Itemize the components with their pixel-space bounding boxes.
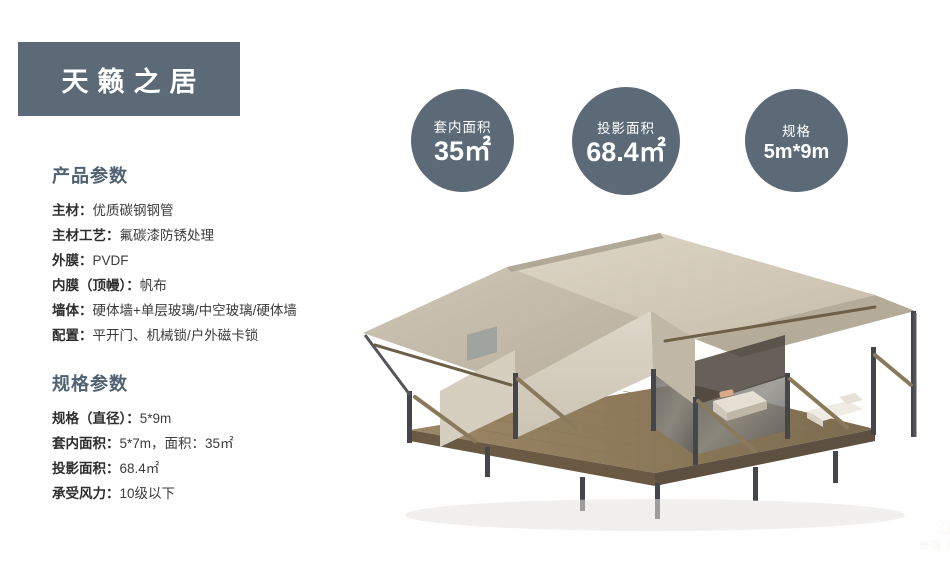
spec-row: 墙体：硬体墙+单层玻璃/中空玻璃/硬体墙 xyxy=(52,298,382,323)
spec-row: 投影面积：68.4㎡ xyxy=(52,456,382,481)
spec-row: 主材工艺：氟碳漆防锈处理 xyxy=(52,223,382,248)
spec-row: 规格（直径）：5*9m xyxy=(52,406,382,431)
stat-circle-value: 68.4㎡ xyxy=(586,139,666,166)
spec-value: 硬体墙+单层玻璃/中空玻璃/硬体墙 xyxy=(93,303,297,318)
page-title: 天籁之居 xyxy=(53,60,206,99)
stat-circle-interior-area: 套内面积 35㎡ xyxy=(411,89,514,192)
stat-circle-label: 规格 xyxy=(782,120,811,140)
spec-value: PVDF xyxy=(93,253,129,268)
spec-row: 套内面积：5*7m，面积：35㎡ xyxy=(52,431,382,456)
spec-value: 5*9m xyxy=(140,411,172,426)
title-banner: 天籁之居 xyxy=(18,42,240,116)
spec-label: 主材： xyxy=(52,203,93,218)
spec-label: 投影面积： xyxy=(52,461,120,476)
spec-label: 承受风力： xyxy=(52,486,120,501)
spec-row: 主材：优质碳钢钢管 xyxy=(52,198,382,223)
stat-circle-value: 5m*9m xyxy=(764,142,830,162)
spec-value: 68.4㎡ xyxy=(120,461,160,476)
spec-panel: 产品参数 主材：优质碳钢钢管 主材工艺：氟碳漆防锈处理 外膜：PVDF 内膜（顶… xyxy=(52,162,382,506)
spec-label: 配置： xyxy=(52,328,93,343)
spec-row: 配置：平开门、机械锁/户外磁卡锁 xyxy=(52,323,382,348)
spec-label: 套内面积： xyxy=(52,436,120,451)
spec-label: 内膜（顶幔）： xyxy=(52,278,140,293)
poster-page: 天籁之居 产品参数 主材：优质碳钢钢管 主材工艺：氟碳漆防锈处理 外膜：PVDF… xyxy=(0,0,950,534)
spec-label: 主材工艺： xyxy=(52,228,120,243)
stat-circle-dimensions: 规格 5m*9m xyxy=(745,89,848,192)
spec-value: 10级以下 xyxy=(120,486,176,501)
stat-circle-value: 35㎡ xyxy=(434,138,491,165)
watermark-text: 帐篷酒店 xyxy=(885,537,950,552)
stat-circle-label: 投影面积 xyxy=(597,117,655,137)
spec-label: 规格（直径）： xyxy=(52,411,140,426)
spec-value: 氟碳漆防锈处理 xyxy=(120,228,215,243)
spec-row: 外膜：PVDF xyxy=(52,248,382,273)
spec-section-heading-specification: 规格参数 xyxy=(52,370,382,396)
spec-label: 墙体： xyxy=(52,303,93,318)
stat-circle-projected-area: 投影面积 68.4㎡ xyxy=(572,87,680,195)
spec-row: 内膜（顶幔）：帆布 xyxy=(52,273,382,298)
spec-value: 5*7m，面积：35㎡ xyxy=(120,436,234,451)
spec-value: 帆布 xyxy=(140,278,167,293)
stat-circle-label: 套内面积 xyxy=(434,116,492,136)
tent-render-illustration: ⌂ 帐篷酒店 xyxy=(355,215,950,534)
spec-row: 承受风力：10级以下 xyxy=(52,481,382,506)
spec-value: 优质碳钢钢管 xyxy=(93,203,174,218)
spec-label: 外膜： xyxy=(52,253,93,268)
spec-value: 平开门、机械锁/户外磁卡锁 xyxy=(93,328,259,343)
spec-section-heading-product: 产品参数 xyxy=(52,162,382,188)
